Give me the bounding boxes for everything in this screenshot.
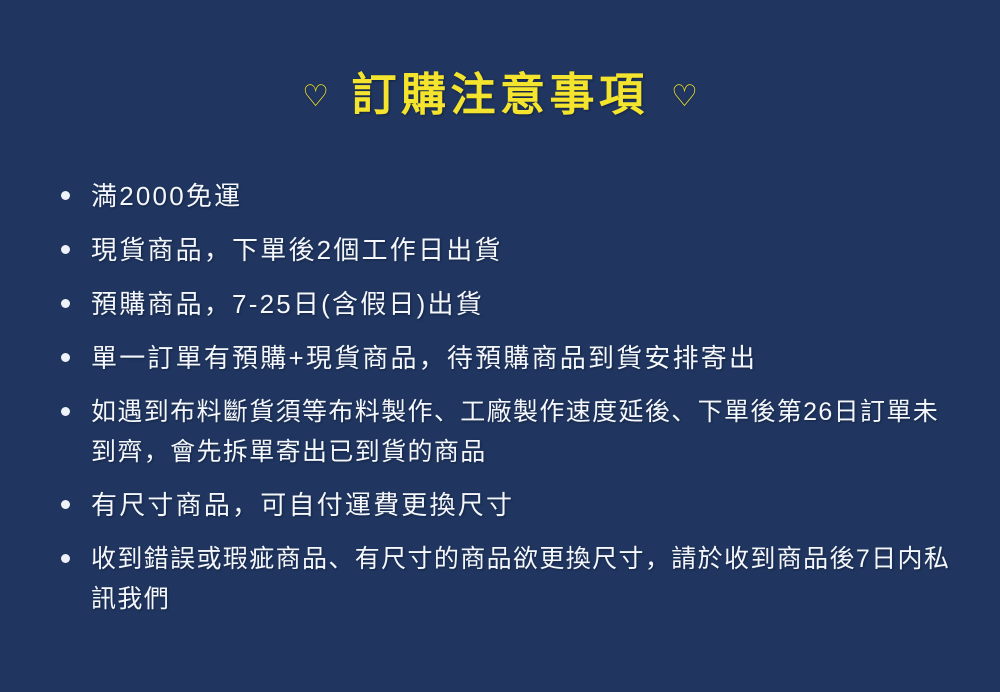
list-item-label: 満2000免運 [91, 176, 958, 217]
order-notice-card: ♡ 訂購注意事項 ♡ 満2000免運 現貨商品，下單後2個工作日出貨 預購商品，… [0, 0, 1000, 692]
bullet-dot-icon [61, 353, 70, 362]
list-item: 如遇到布料斷貨須等布料製作、工廠製作速度延後、下單後第26日訂單未到齊，會先拆單… [58, 392, 958, 472]
list-item: 預購商品，7-25日(含假日)出貨 [58, 284, 958, 325]
page-title: ♡ 訂購注意事項 ♡ [0, 72, 1000, 117]
list-item-label: 收到錯誤或瑕疵商品、有尺寸的商品欲更換尺寸，請於收到商品後7日内私訊我們 [91, 539, 958, 619]
heart-icon-right: ♡ [671, 82, 698, 112]
heart-icon-left: ♡ [302, 82, 329, 112]
list-item-label: 如遇到布料斷貨須等布料製作、工廠製作速度延後、下單後第26日訂單未到齊，會先拆單… [91, 392, 958, 472]
list-item: 満2000免運 [58, 176, 958, 217]
list-item: 有尺寸商品，可自付運費更換尺寸 [58, 485, 958, 526]
list-item-label: 單一訂單有預購+現貨商品，待預購商品到貨安排寄出 [91, 338, 958, 379]
list-item-label: 有尺寸商品，可自付運費更換尺寸 [91, 485, 958, 526]
list-item-label: 預購商品，7-25日(含假日)出貨 [91, 284, 958, 325]
list-item: 收到錯誤或瑕疵商品、有尺寸的商品欲更換尺寸，請於收到商品後7日内私訊我們 [58, 539, 958, 619]
bullet-dot-icon [61, 407, 70, 416]
list-item: 現貨商品，下單後2個工作日出貨 [58, 230, 958, 271]
notice-list: 満2000免運 現貨商品，下單後2個工作日出貨 預購商品，7-25日(含假日)出… [58, 176, 958, 619]
bullet-dot-icon [61, 245, 70, 254]
bullet-dot-icon [61, 191, 70, 200]
page-title-text: 訂購注意事項 [351, 72, 648, 117]
list-item: 單一訂單有預購+現貨商品，待預購商品到貨安排寄出 [58, 338, 958, 379]
list-item-label: 現貨商品，下單後2個工作日出貨 [91, 230, 958, 271]
bullet-dot-icon [61, 554, 70, 563]
bullet-dot-icon [61, 299, 70, 308]
bullet-dot-icon [61, 500, 70, 509]
